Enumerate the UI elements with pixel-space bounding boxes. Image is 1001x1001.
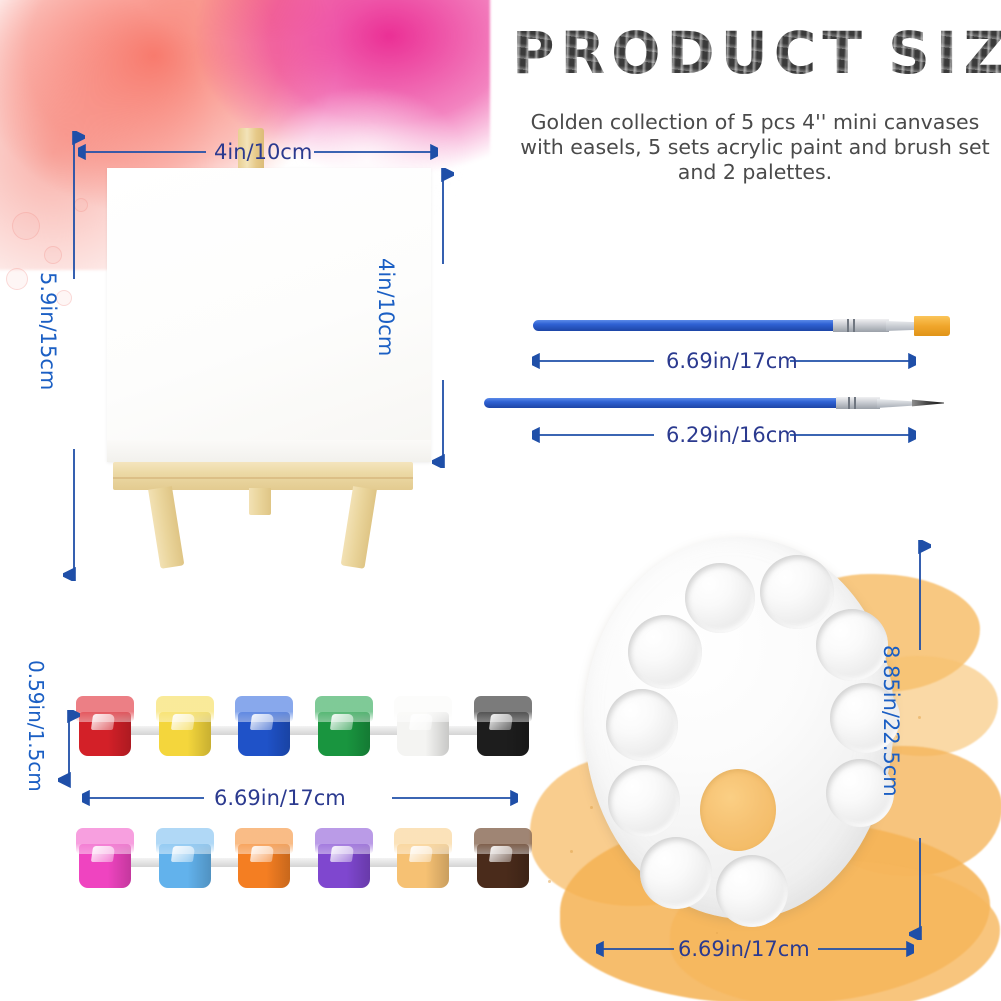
paint-pot-black: [474, 694, 532, 756]
canvas-height-label: 4in/10cm: [374, 258, 398, 356]
detail-brush-ferrule-band-1: [848, 397, 850, 409]
canvas-width-label: 4in/10cm: [214, 140, 312, 164]
paint-pot-blue: [235, 694, 293, 756]
palette-well-1: [685, 563, 755, 633]
canvas-bottom-edge: [107, 440, 431, 462]
pot-height-arrow-icon: [58, 710, 80, 788]
flat-brush-length-label: 6.69in/17cm: [666, 349, 798, 373]
palette-height-arrow-icon: [909, 540, 931, 940]
easel-leg-right: [341, 486, 377, 569]
pot-gloss: [91, 846, 115, 862]
palette-height-label: 8.85in/22.5cm: [879, 645, 903, 797]
detail-brush-neck: [877, 399, 915, 408]
flat-brush-neck: [886, 320, 916, 332]
palette-well-10: [716, 855, 788, 927]
palette-well-5: [606, 689, 678, 761]
flat-brush-ferrule-band-2: [853, 319, 855, 332]
pot-gloss: [329, 846, 353, 862]
easel-leg-left: [148, 486, 184, 569]
paint-pot-green: [315, 694, 373, 756]
paint-pot-purple: [315, 826, 373, 888]
palette-thumb-hole: [700, 769, 776, 851]
detail-brush-tip: [912, 399, 944, 407]
easel-height-arrow-icon: [63, 131, 85, 581]
paint-pot-light-blue: [156, 826, 214, 888]
easel-height-label: 5.9in/15cm: [36, 272, 60, 390]
paint-pot-red: [76, 694, 134, 756]
flat-brush-bristles: [914, 316, 950, 336]
palette-well-4: [816, 609, 888, 681]
paint-pot-orange: [235, 826, 293, 888]
palette-well-3: [628, 615, 702, 689]
pot-gloss: [170, 846, 194, 862]
flat-brush-ferrule: [833, 319, 889, 332]
detail-brush-ferrule: [836, 397, 880, 409]
palette-well-7: [608, 765, 680, 837]
pot-gloss: [488, 714, 512, 730]
product-size-infographic: PRODUCT SIZE Golden collection of 5 pcs …: [0, 0, 1001, 1001]
easel-ledge: [113, 462, 413, 490]
pot-strip-width-label: 6.69in/17cm: [214, 786, 346, 810]
pot-gloss: [409, 846, 433, 862]
pot-gloss: [409, 714, 433, 730]
page-title: PRODUCT SIZE: [512, 22, 990, 84]
flat-brush-handle: [533, 320, 835, 331]
paint-pot-brown: [474, 826, 532, 888]
detail-brush-handle: [484, 398, 838, 408]
pot-gloss: [250, 846, 274, 862]
paint-palette: [584, 537, 894, 919]
paint-pot-pink: [76, 826, 134, 888]
flat-brush-ferrule-band-1: [847, 319, 849, 332]
palette-well-2: [760, 555, 834, 629]
palette-width-label: 6.69in/17cm: [678, 937, 810, 961]
canvas-height-arrow-icon: [432, 168, 454, 468]
pot-gloss: [91, 714, 115, 730]
pot-gloss: [329, 714, 353, 730]
paint-pot-peach: [394, 826, 452, 888]
pot-gloss: [250, 714, 274, 730]
paint-pot-yellow: [156, 694, 214, 756]
pot-height-label: 0.59in/1.5cm: [24, 660, 48, 792]
detail-brush-length-label: 6.29in/16cm: [666, 423, 798, 447]
pot-gloss: [170, 714, 194, 730]
paint-pot-white: [394, 694, 452, 756]
detail-brush-ferrule-band-2: [854, 397, 856, 409]
palette-well-9: [640, 837, 712, 909]
easel-leg-center: [249, 488, 271, 515]
page-subtitle: Golden collection of 5 pcs 4'' mini canv…: [520, 110, 990, 185]
pot-gloss: [488, 846, 512, 862]
